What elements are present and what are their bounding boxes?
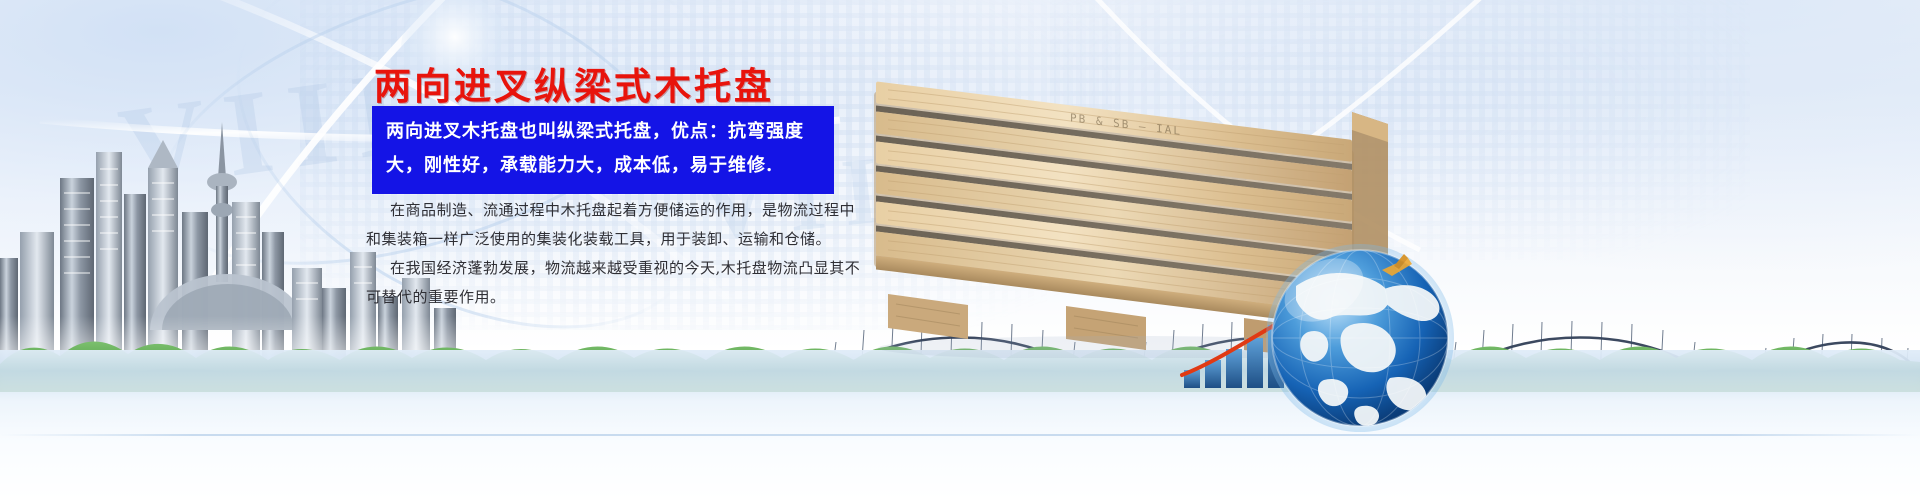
globe-illustration [1262, 228, 1462, 438]
body-paragraph-2: 和集装箱一样广泛使用的集装化装载工具，用于装卸、运输和仓储。 [366, 225, 876, 254]
highlight-callout-box: 两向进叉木托盘也叫纵梁式托盘，优点：抗弯强度 大，刚性好，承载能力大，成本低，易… [372, 106, 834, 194]
body-paragraph-1: 在商品制造、流通过程中木托盘起着方便储运的作用，是物流过程中 [366, 196, 876, 225]
body-paragraph-4: 可替代的重要作用。 [366, 283, 876, 312]
body-description: 在商品制造、流通过程中木托盘起着方便储运的作用，是物流过程中 和集装箱一样广泛使… [366, 196, 876, 312]
water-horizon-line [0, 434, 1920, 436]
body-paragraph-3: 在我国经济蓬勃发展，物流越来越受重视的今天,木托盘物流凸显其不 [366, 254, 876, 283]
page-title: 两向进叉纵梁式木托盘 [374, 56, 774, 110]
water-reflection-band [0, 350, 1920, 500]
product-banner: VIII VII [0, 0, 1920, 500]
highlight-line-1: 两向进叉木托盘也叫纵梁式托盘，优点：抗弯强度 [386, 115, 822, 149]
highlight-line-2: 大，刚性好，承载能力大，成本低，易于维修. [386, 149, 822, 183]
